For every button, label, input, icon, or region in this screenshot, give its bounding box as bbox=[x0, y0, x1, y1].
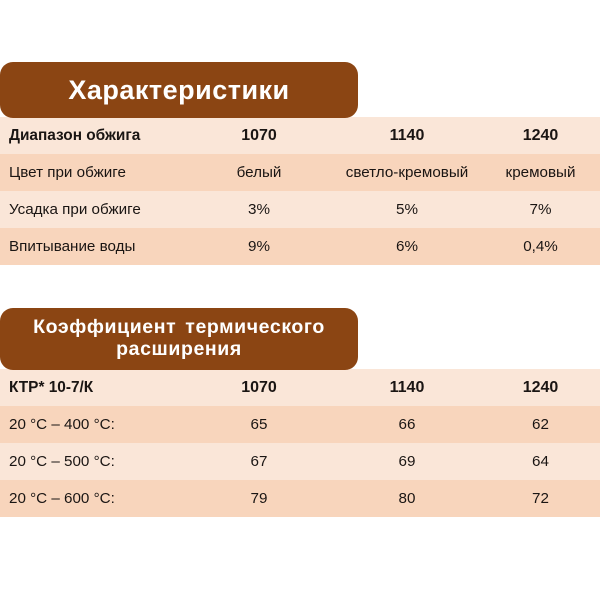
table-row: Впитывание воды 9% 6% 0,4% bbox=[0, 228, 600, 265]
row-cell-value: 62 bbox=[481, 406, 600, 443]
row-label-firing-shrinkage: Усадка при обжиге bbox=[0, 191, 185, 228]
section-title-thermal-expansion: Коэффициент термического расширения bbox=[14, 317, 344, 361]
row-label-20-400: 20 °C – 400 °C: bbox=[0, 406, 185, 443]
header-value-1070: 1070 bbox=[185, 117, 333, 154]
row-cell-value: 7% bbox=[481, 191, 600, 228]
row-cell-value: 6% bbox=[333, 228, 481, 265]
row-cell-value: кремовый bbox=[481, 154, 600, 191]
header-value-1240: 1240 bbox=[481, 369, 600, 406]
thermal-expansion-table: КТР* 10-7/К 1070 1140 1240 20 °C – 400 °… bbox=[0, 369, 600, 517]
row-label-20-600: 20 °C – 600 °C: bbox=[0, 480, 185, 517]
row-cell-value: 64 bbox=[481, 443, 600, 480]
table-row: Усадка при обжиге 3% 5% 7% bbox=[0, 191, 600, 228]
section-title-banner-thermal-expansion: Коэффициент термического расширения bbox=[0, 308, 358, 370]
section-title-characteristics: Характеристики bbox=[68, 75, 289, 105]
table-row: Цвет при обжиге белый светло-кремовый кр… bbox=[0, 154, 600, 191]
header-value-1240: 1240 bbox=[481, 117, 600, 154]
row-cell-value: 80 bbox=[333, 480, 481, 517]
row-cell-value: 0,4% bbox=[481, 228, 600, 265]
row-cell-value: 79 bbox=[185, 480, 333, 517]
row-cell-value: 72 bbox=[481, 480, 600, 517]
table-row: 20 °C – 600 °C: 79 80 72 bbox=[0, 480, 600, 517]
table-row: 20 °C – 400 °C: 65 66 62 bbox=[0, 406, 600, 443]
header-label-ktr: КТР* 10-7/К bbox=[0, 369, 185, 406]
section-title-banner-characteristics: Характеристики bbox=[0, 62, 358, 118]
table-header-row: КТР* 10-7/К 1070 1140 1240 bbox=[0, 369, 600, 406]
row-cell-value: 66 bbox=[333, 406, 481, 443]
header-label-firing-range: Диапазон обжига bbox=[0, 117, 185, 154]
section-thermal-expansion: Коэффициент термического расширения КТР*… bbox=[0, 308, 600, 517]
page-root: Характеристики Диапазон обжига 1070 1140… bbox=[0, 0, 600, 600]
row-cell-value: 5% bbox=[333, 191, 481, 228]
row-label-firing-color: Цвет при обжиге bbox=[0, 154, 185, 191]
header-value-1140: 1140 bbox=[333, 369, 481, 406]
row-cell-value: светло-кремовый bbox=[333, 154, 481, 191]
table-header-row: Диапазон обжига 1070 1140 1240 bbox=[0, 117, 600, 154]
row-cell-value: 3% bbox=[185, 191, 333, 228]
row-cell-value: 65 bbox=[185, 406, 333, 443]
table-row: 20 °C – 500 °C: 67 69 64 bbox=[0, 443, 600, 480]
row-label-water-absorption: Впитывание воды bbox=[0, 228, 185, 265]
row-cell-value: 67 bbox=[185, 443, 333, 480]
characteristics-table: Диапазон обжига 1070 1140 1240 Цвет при … bbox=[0, 117, 600, 265]
row-cell-value: 69 bbox=[333, 443, 481, 480]
header-value-1140: 1140 bbox=[333, 117, 481, 154]
row-cell-value: 9% bbox=[185, 228, 333, 265]
row-cell-value: белый bbox=[185, 154, 333, 191]
row-label-20-500: 20 °C – 500 °C: bbox=[0, 443, 185, 480]
section-characteristics: Характеристики Диапазон обжига 1070 1140… bbox=[0, 62, 600, 265]
header-value-1070: 1070 bbox=[185, 369, 333, 406]
